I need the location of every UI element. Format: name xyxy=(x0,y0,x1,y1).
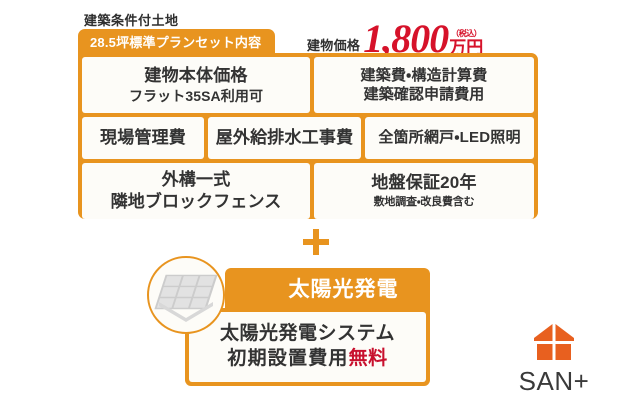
plan-set-panel: 28.5坪標準プランセット内容 建物本体価格 フラット35SA利用可 建築費・構… xyxy=(78,29,538,219)
plan-cell: 建物本体価格 フラット35SA利用可 xyxy=(82,57,310,113)
plus-sign-icon xyxy=(303,229,329,255)
plan-cell: 全箇所網戸・LED照明 xyxy=(365,117,534,159)
solar-detail-inner: 太陽光発電システム 初期設置費用無料 xyxy=(189,312,426,382)
plan-cell-sub: フラット35SA利用可 xyxy=(129,88,263,104)
plan-cell-title: 屋外給排水工事費 xyxy=(216,128,354,148)
plan-cell-title: 現場管理費 xyxy=(100,128,186,148)
plan-cell: 屋外給排水工事費 xyxy=(208,117,361,159)
solar-heading-bar: 太陽光発電 xyxy=(225,268,430,308)
plan-cell-title: 建築費・構造計算費 xyxy=(361,67,488,84)
plan-cell: 現場管理費 xyxy=(82,117,204,159)
solar-cost-prefix: 初期設置費用 xyxy=(227,348,348,369)
solar-detail-panel: 太陽光発電システム 初期設置費用無料 xyxy=(185,308,430,386)
solar-power-section: 太陽光発電 太陽光発電システム 初期設置費用無料 xyxy=(185,268,430,386)
plan-cell: 建築費・構造計算費 建築確認申請費用 xyxy=(314,57,534,113)
plan-cell-sub: 建築確認申請費用 xyxy=(364,86,485,103)
solar-panel-icon xyxy=(147,256,225,334)
advertisement-canvas: 建築条件付土地 建物価格 1,800 （税込） 万円 28.5坪標準プランセット… xyxy=(0,0,620,413)
plan-cell: 外構一式 隣地ブロックフェンス xyxy=(82,163,310,219)
plan-cell-title: 建物本体価格 xyxy=(144,66,247,86)
plan-cell-sub: 敷地調査・改良費含む xyxy=(374,196,475,209)
plan-row: 現場管理費 屋外給排水工事費 全箇所網戸・LED照明 xyxy=(82,117,534,159)
plan-cell: 地盤保証20年 敷地調査・改良費含む xyxy=(314,163,534,219)
plan-cell-title: 外構一式 xyxy=(162,170,231,190)
plan-row: 建物本体価格 フラット35SA利用可 建築費・構造計算費 建築確認申請費用 xyxy=(82,57,534,113)
brand-logo-text: SAN+ xyxy=(508,366,600,397)
plan-set-tab: 28.5坪標準プランセット内容 xyxy=(78,29,275,53)
brand-logo: SAN+ xyxy=(508,324,600,396)
plan-set-grid: 建物本体価格 フラット35SA利用可 建築費・構造計算費 建築確認申請費用 現場… xyxy=(78,53,538,219)
plan-cell-title: 全箇所網戸・LED照明 xyxy=(378,129,520,146)
plan-row: 外構一式 隣地ブロックフェンス 地盤保証20年 敷地調査・改良費含む xyxy=(82,163,534,219)
solar-heading-text: 太陽光発電 xyxy=(257,273,399,303)
land-condition-label: 建築条件付土地 xyxy=(84,10,179,29)
house-logo-mark xyxy=(531,324,577,364)
plan-cell-title: 地盤保証20年 xyxy=(371,173,476,193)
solar-system-line: 太陽光発電システム xyxy=(220,323,395,346)
plan-cell-sub: 隣地ブロックフェンス xyxy=(111,192,282,212)
solar-free-badge: 無料 xyxy=(349,348,388,369)
solar-cost-line: 初期設置費用無料 xyxy=(227,348,387,371)
